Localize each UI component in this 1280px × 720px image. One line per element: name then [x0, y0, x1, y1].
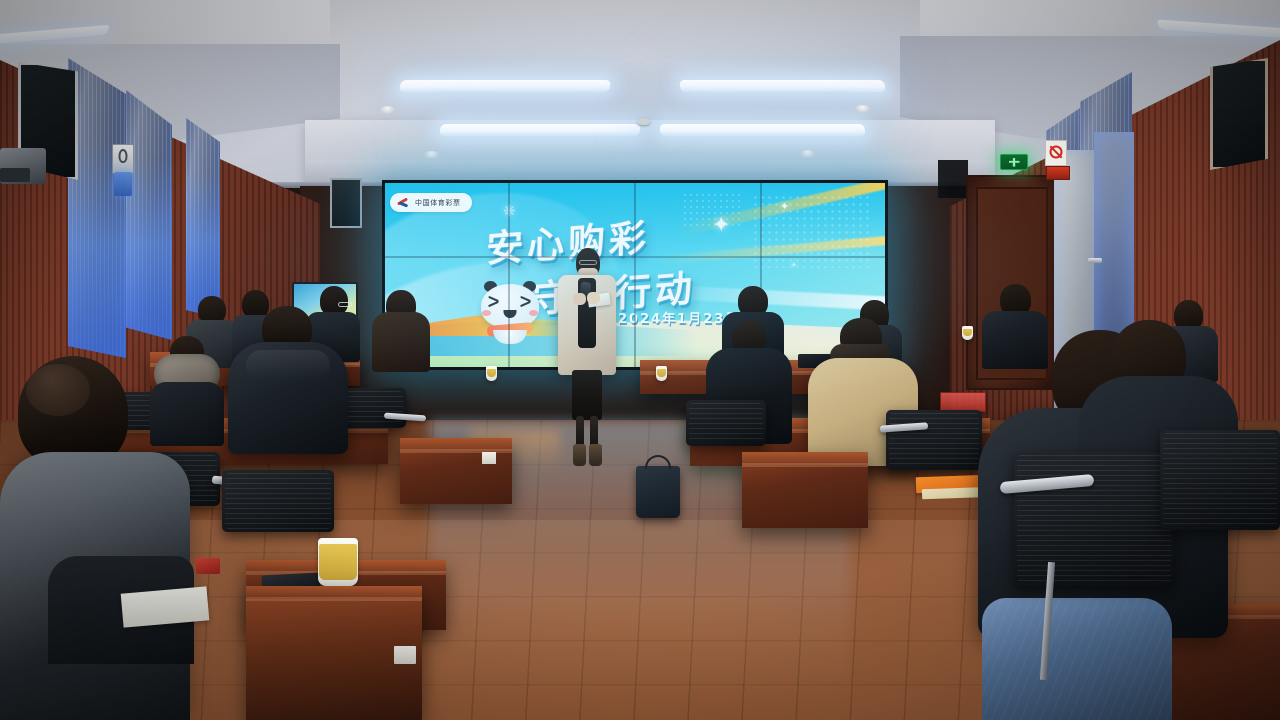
- wall-panel-left-3: [186, 118, 220, 318]
- chair-row3-d[interactable]: [686, 400, 766, 446]
- wall-notice-sign-left: [112, 144, 134, 174]
- handbag[interactable]: [636, 466, 680, 518]
- fire-equipment-box: [1046, 166, 1070, 180]
- desk-label-card: [394, 646, 416, 664]
- desk-label-card-2: [482, 452, 496, 464]
- wall-speaker-right: [1210, 58, 1268, 170]
- ceiling-light-3: [439, 124, 641, 136]
- presenter-boot-right: [589, 444, 602, 466]
- desk-row3-mid: [400, 438, 512, 504]
- jeans: [982, 598, 1172, 720]
- chair-row2-b[interactable]: [222, 470, 334, 532]
- presenter: [556, 248, 618, 478]
- sports-lottery-logo-icon: [397, 197, 410, 209]
- paper-cup-1[interactable]: [486, 366, 497, 381]
- no-smoking-sign-icon: [1045, 140, 1067, 166]
- ceiling-soffit-right: [920, 0, 1280, 42]
- lottery-logo-text: 中国体育彩票: [415, 198, 461, 208]
- ceiling-light-4: [659, 124, 865, 136]
- chair-foreground-right[interactable]: [1014, 452, 1174, 586]
- presenter-skirt: [572, 370, 602, 420]
- paper-cup-2[interactable]: [656, 366, 667, 381]
- wall-speaker-center-left: [330, 178, 362, 228]
- attendee-long-hair-left: [372, 290, 430, 368]
- attendee-black-puffer: [228, 306, 348, 451]
- ceiling-spot-3: [424, 151, 439, 159]
- red-item-on-desk[interactable]: [196, 558, 220, 574]
- presenter-glasses-icon: [579, 260, 597, 265]
- ceiling-light-1: [399, 80, 611, 92]
- door-handle-icon[interactable]: [1088, 258, 1102, 263]
- ceiling-spot-4: [800, 150, 815, 158]
- presenter-boot-left: [573, 444, 586, 466]
- attendee-foreground-left: [0, 356, 190, 720]
- smoke-detector-icon: [637, 118, 650, 125]
- lottery-brand-logo: 中国体育彩票: [390, 193, 472, 212]
- lottery-mascot-icon: [477, 284, 543, 346]
- ceiling-spot-1: [380, 106, 395, 114]
- wall-sign-blue-left: [114, 172, 132, 196]
- desk-row2-mid-right: [742, 452, 868, 528]
- speaker-mount-arm: [0, 168, 30, 182]
- emergency-exit-sign-icon: [1000, 154, 1028, 170]
- wall-panel-left-2: [126, 90, 172, 340]
- ceiling-spot-2: [855, 105, 870, 113]
- wall-recess-right: [938, 160, 968, 198]
- meeting-room-photo: ✦ ✦ ❋ ✦ 中国体育彩票 安心购彩 守护行动 2024年1月23日: [0, 0, 1280, 720]
- chair-right-far[interactable]: [1160, 430, 1280, 530]
- ceiling-soffit-left: [0, 0, 330, 48]
- paper-cup-foreground[interactable]: [318, 538, 358, 586]
- hair-bun: [26, 364, 90, 416]
- ceiling-light-2: [679, 80, 886, 92]
